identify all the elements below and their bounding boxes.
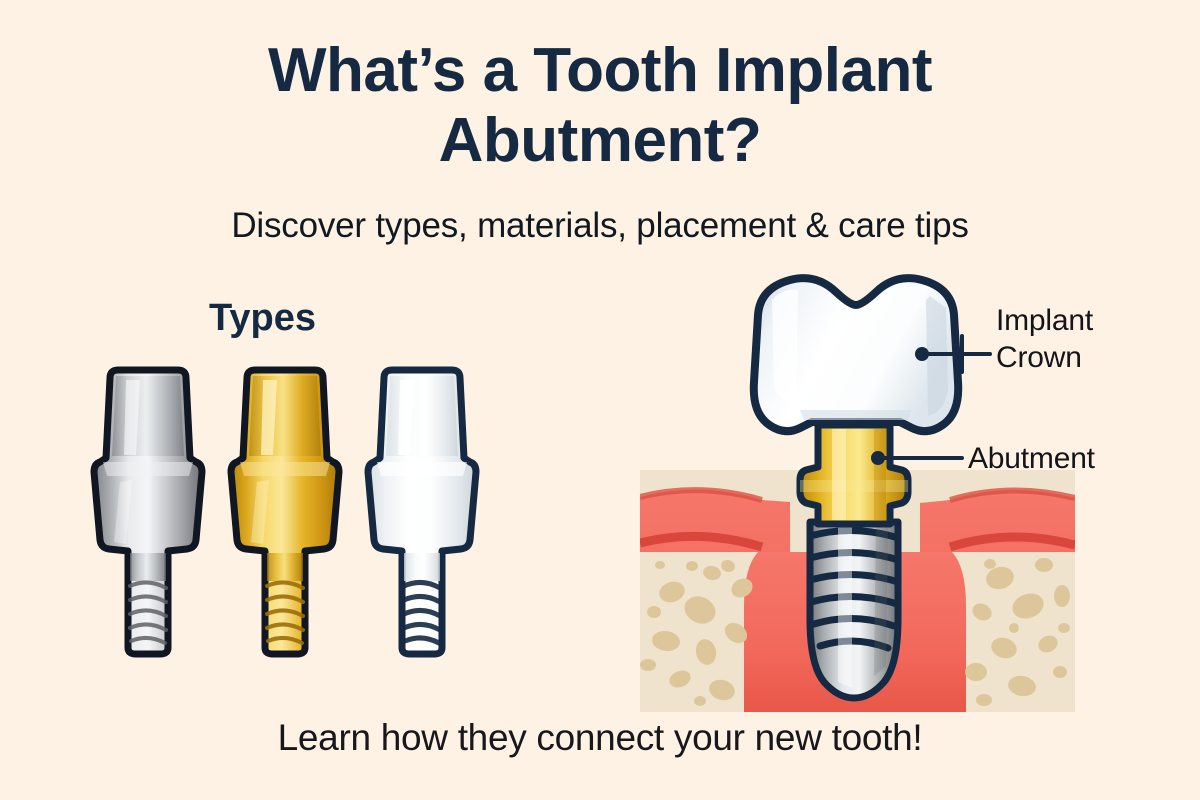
implant-crown-label: Implant Crown	[996, 302, 1093, 376]
cross-section-abutment	[800, 425, 908, 524]
footer-cta: Learn how they connect your new tooth!	[0, 714, 1200, 762]
implant-cross-section-illustration	[0, 0, 1200, 800]
implant-screw	[810, 522, 898, 698]
abutment-label: Abutment	[968, 440, 1095, 477]
abutment-leader-dot	[871, 451, 885, 465]
crown-leader-dot	[915, 347, 929, 361]
infographic-canvas: What’s a Tooth Implant Abutment? Discove…	[0, 0, 1200, 800]
